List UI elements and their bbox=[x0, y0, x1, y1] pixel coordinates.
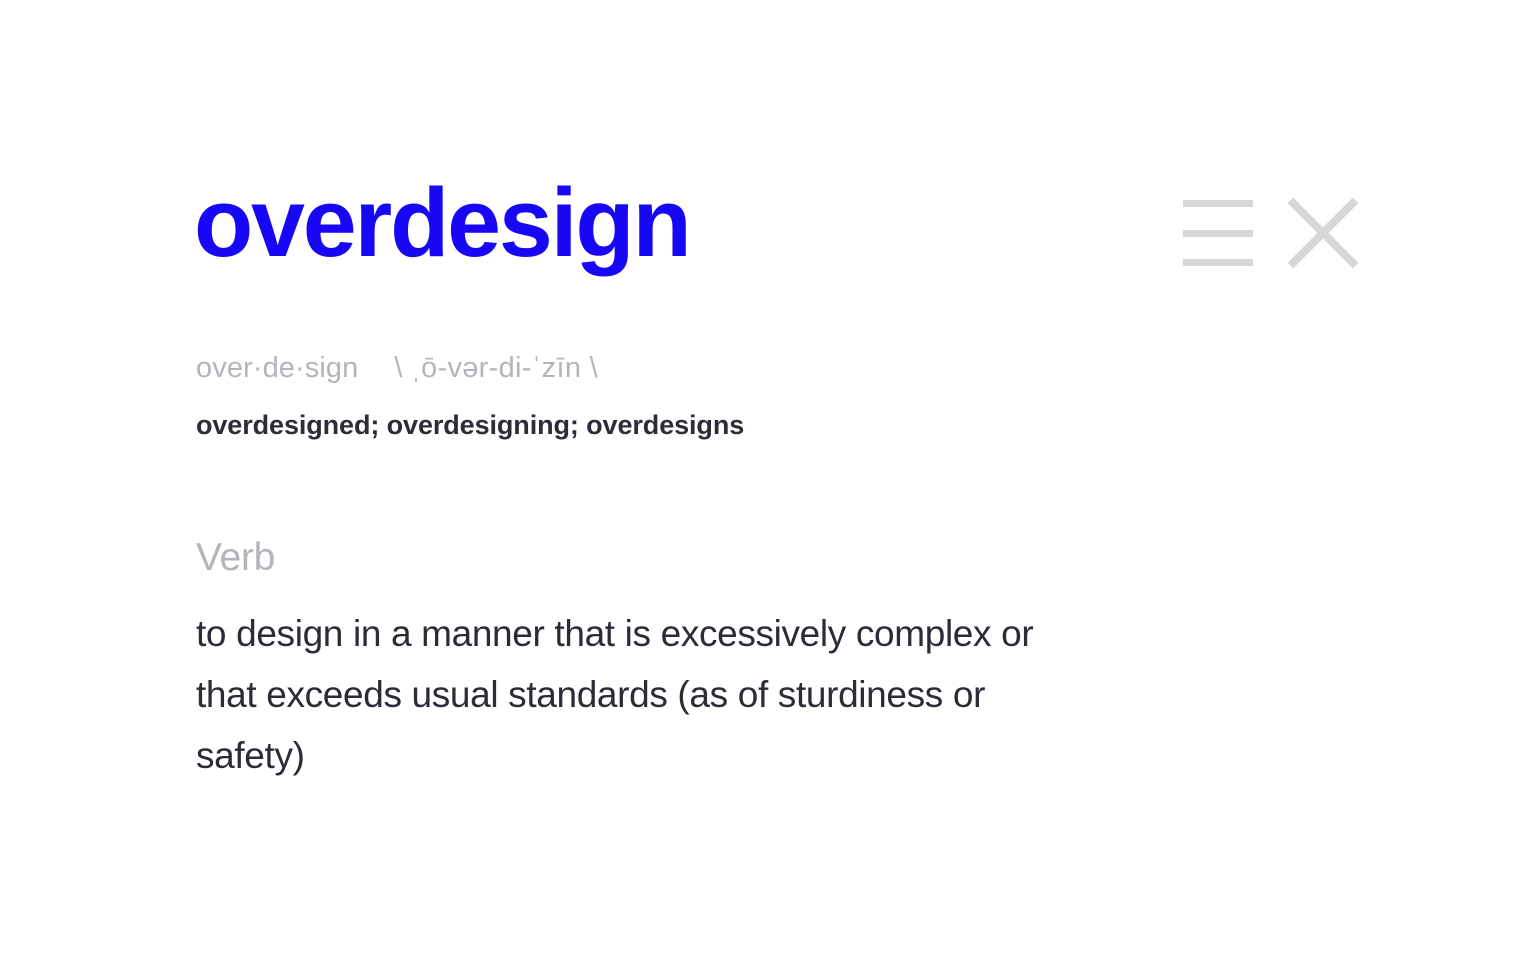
part-of-speech-label: Verb bbox=[196, 536, 275, 580]
dictionary-entry-page: overdesign over·de·sign \ ˌō-vər-di-ˈzīn… bbox=[0, 0, 1536, 956]
phonetic-pronunciation: \ ˌō-vər-di-ˈzīn \ bbox=[394, 352, 598, 385]
inflected-forms: overdesigned; overdesigning; overdesigns bbox=[196, 410, 744, 441]
hamburger-bar-bottom bbox=[1183, 259, 1253, 266]
page-title: overdesign bbox=[194, 172, 690, 275]
hamburger-menu-icon[interactable] bbox=[1183, 196, 1253, 270]
close-x-icon[interactable] bbox=[1289, 196, 1357, 270]
syllabification: over·de·sign bbox=[196, 352, 358, 385]
hamburger-bar-middle bbox=[1183, 230, 1253, 237]
window-controls bbox=[1183, 196, 1357, 270]
pronunciation-row: over·de·sign \ ˌō-vər-di-ˈzīn \ bbox=[196, 352, 598, 385]
definition-text: to design in a manner that is excessivel… bbox=[196, 603, 1066, 786]
hamburger-bar-top bbox=[1183, 200, 1253, 207]
